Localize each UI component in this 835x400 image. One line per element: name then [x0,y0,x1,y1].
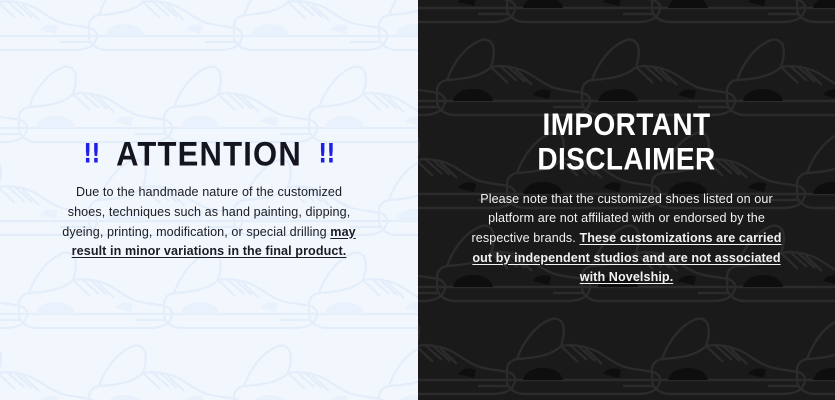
attention-panel: !! ATTENTION !! Due to the handmade natu… [0,0,418,400]
customization-disclaimer-banner: !! ATTENTION !! Due to the handmade natu… [0,0,835,400]
bang-right: !! [318,140,335,166]
attention-body-normal: Due to the handmade nature of the custom… [62,185,350,239]
attention-heading: !! ATTENTION !! [30,138,388,169]
disclaimer-body: Please note that the customized shoes li… [469,190,785,288]
attention-word: ATTENTION [116,136,302,171]
bang-left: !! [83,140,100,166]
disclaimer-heading-line2: DISCLAIMER [442,142,811,176]
attention-body: Due to the handmade nature of the custom… [59,183,359,263]
disclaimer-heading: IMPORTANT DISCLAIMER [442,108,811,176]
disclaimer-panel: IMPORTANT DISCLAIMER Please note that th… [418,0,835,400]
disclaimer-heading-line1: IMPORTANT [442,108,811,142]
